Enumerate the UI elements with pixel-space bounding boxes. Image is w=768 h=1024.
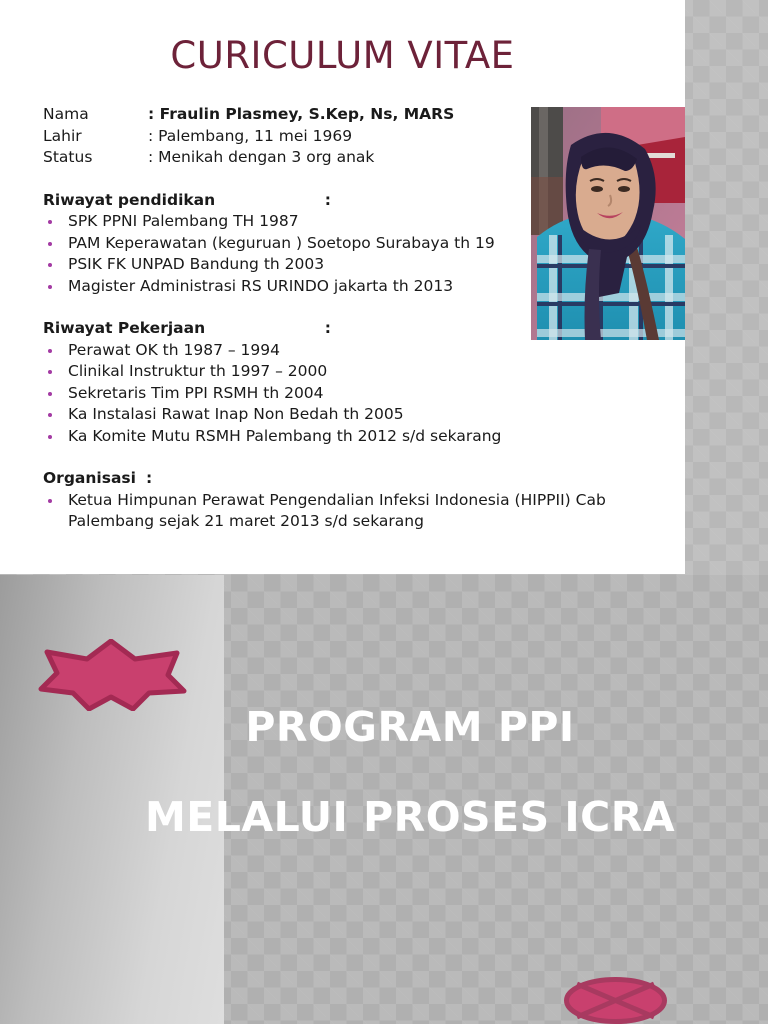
identity-value-lahir: : Palembang, 11 mei 1969 — [148, 126, 352, 148]
work-list: Perawat OK th 1987 – 1994 Clinikal Instr… — [43, 340, 673, 448]
section-heading-work-text: Riwayat Pekerjaan — [43, 318, 205, 340]
list-item: Clinikal Instruktur th 1997 – 2000 — [43, 361, 673, 383]
spacer — [43, 447, 673, 468]
list-item: Ka Instalasi Rawat Inap Non Bedah th 200… — [43, 404, 673, 426]
portrait-photo — [531, 107, 685, 340]
identity-value-status: : Menikah dengan 3 org anak — [148, 147, 374, 169]
section-heading-organization-colon: : — [146, 468, 152, 490]
identity-label-status: Status — [43, 147, 148, 169]
section-heading-education-colon: : — [325, 190, 331, 212]
identity-label-lahir: Lahir — [43, 126, 148, 148]
slide-title-line-1: PROGRAM PPI — [60, 682, 760, 772]
list-item: Sekretaris Tim PPI RSMH th 2004 — [43, 383, 673, 405]
portrait-photo-image — [531, 107, 685, 340]
page-title: CURICULUM VITAE — [0, 34, 685, 77]
list-item: Perawat OK th 1987 – 1994 — [43, 340, 673, 362]
crossed-ellipse-shape — [563, 977, 668, 1024]
list-item: Ka Komite Mutu RSMH Palembang th 2012 s/… — [43, 426, 673, 448]
section-heading-organization-text: Organisasi — [43, 468, 136, 490]
organization-list: Ketua Himpunan Perawat Pengendalian Infe… — [43, 490, 673, 533]
crossed-ellipse-icon — [563, 977, 668, 1024]
identity-label-nama: Nama — [43, 104, 148, 126]
slide-title-line-2: MELALUI PROSES ICRA — [60, 772, 760, 862]
section-heading-work: Riwayat Pekerjaan : — [43, 318, 331, 340]
slide-title-program-ppi: PROGRAM PPI MELALUI PROSES ICRA — [60, 682, 760, 862]
section-heading-education: Riwayat pendidikan : — [43, 190, 331, 212]
section-heading-education-text: Riwayat pendidikan — [43, 190, 215, 212]
identity-value-nama: : Fraulin Plasmey, S.Kep, Ns, MARS — [148, 104, 454, 126]
section-heading-organization: Organisasi : — [43, 468, 673, 490]
list-item: Ketua Himpunan Perawat Pengendalian Infe… — [43, 490, 673, 533]
slide-curiculum-vitae[interactable]: CURICULUM VITAE Nama : Fraulin Plasmey, … — [0, 0, 685, 574]
section-heading-work-colon: : — [325, 318, 331, 340]
